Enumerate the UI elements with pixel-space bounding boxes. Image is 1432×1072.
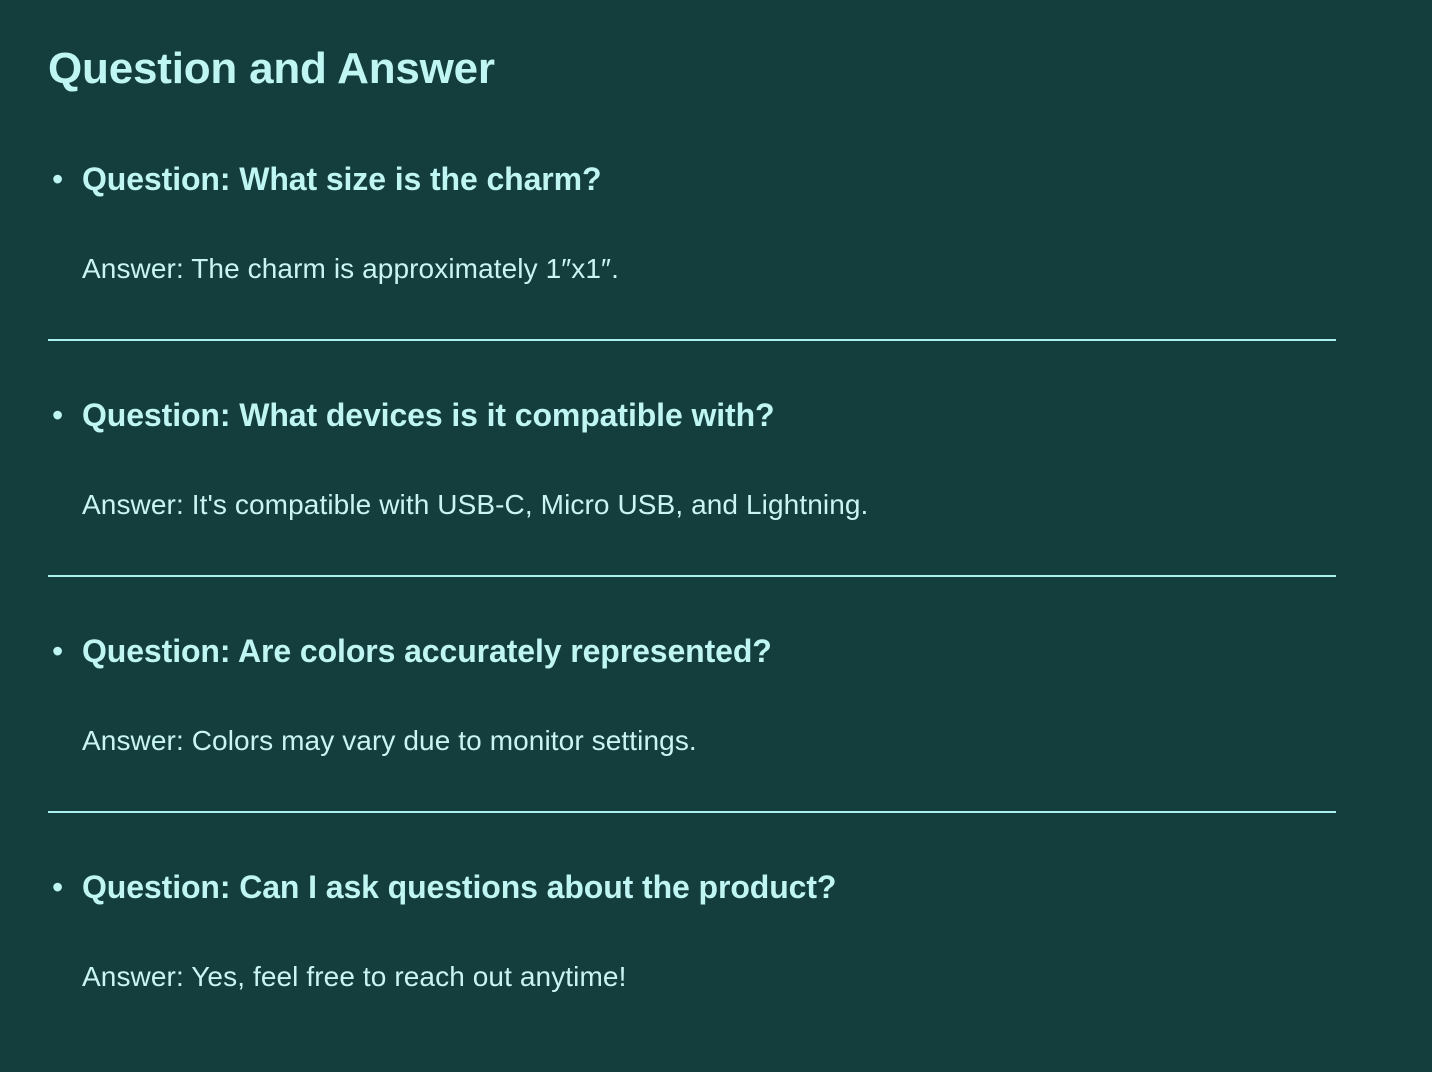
bullet-icon: • xyxy=(48,393,82,437)
faq-question-row: • Question: What devices is it compatibl… xyxy=(48,393,1384,437)
faq-answer-text: Answer: Colors may vary due to monitor s… xyxy=(82,721,1384,761)
faq-question-text: Question: Are colors accurately represen… xyxy=(82,629,772,673)
faq-answer-text: Answer: The charm is approximately 1″x1″… xyxy=(82,249,1384,289)
faq-question-row: • Question: What size is the charm? xyxy=(48,157,1384,201)
faq-item: • Question: Are colors accurately repres… xyxy=(48,629,1384,813)
faq-page: Question and Answer • Question: What siz… xyxy=(0,0,1432,1072)
faq-list: • Question: What size is the charm? Answ… xyxy=(48,157,1384,997)
faq-question-text: Question: What devices is it compatible … xyxy=(82,393,775,437)
faq-question-text: Question: What size is the charm? xyxy=(82,157,601,201)
faq-divider xyxy=(48,339,1336,341)
faq-item: • Question: What size is the charm? Answ… xyxy=(48,157,1384,341)
faq-item: • Question: What devices is it compatibl… xyxy=(48,393,1384,577)
faq-divider xyxy=(48,811,1336,813)
faq-divider xyxy=(48,575,1336,577)
page-title: Question and Answer xyxy=(48,44,1384,95)
faq-answer-text: Answer: It's compatible with USB-C, Micr… xyxy=(82,485,1384,525)
faq-question-text: Question: Can I ask questions about the … xyxy=(82,865,836,909)
faq-answer-text: Answer: Yes, feel free to reach out anyt… xyxy=(82,957,1384,997)
bullet-icon: • xyxy=(48,865,82,909)
faq-question-row: • Question: Can I ask questions about th… xyxy=(48,865,1384,909)
bullet-icon: • xyxy=(48,629,82,673)
faq-question-row: • Question: Are colors accurately repres… xyxy=(48,629,1384,673)
bullet-icon: • xyxy=(48,157,82,201)
faq-item: • Question: Can I ask questions about th… xyxy=(48,865,1384,997)
